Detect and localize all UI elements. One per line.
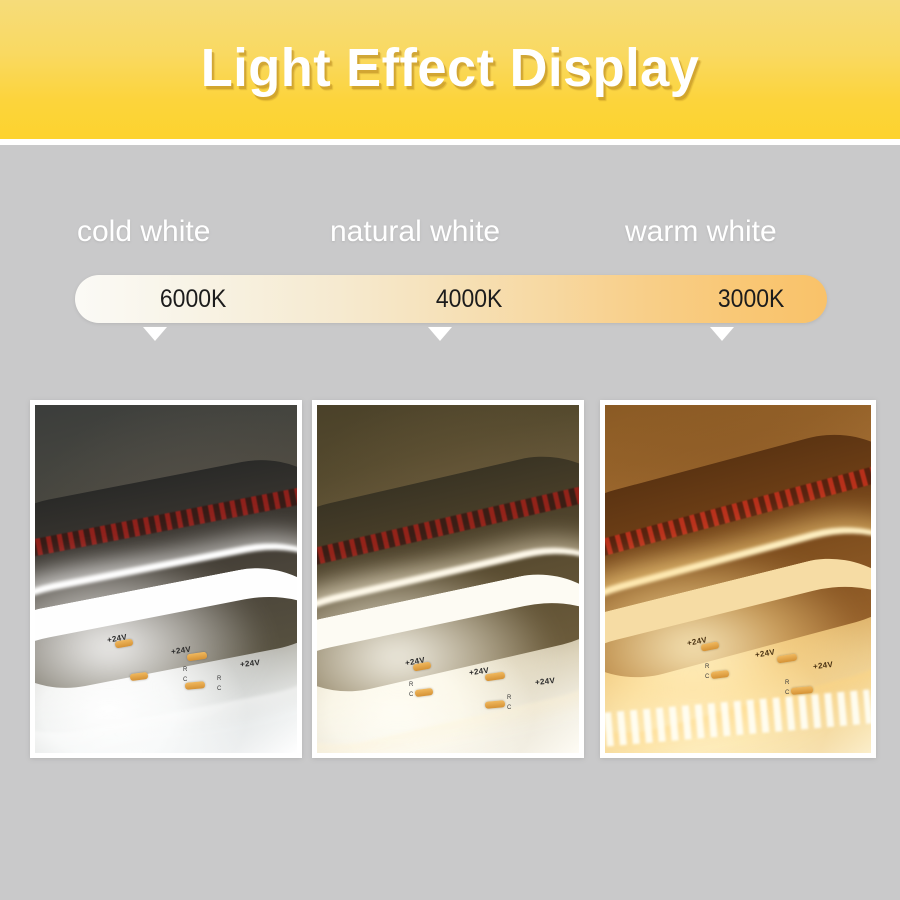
cct-gradient-bar: 6000K 4000K 3000K <box>75 275 827 323</box>
cct-name-row: cold white natural white warm white <box>0 212 900 260</box>
cct-label-natural-white: natural white <box>330 212 500 252</box>
photo-panel-warm-white: +24V +24V +24V R C R C <box>600 400 876 758</box>
pad-label-r-0: R <box>705 664 709 670</box>
pad-label-c-0: C <box>409 692 413 698</box>
photo-panel-row: +24V +24V +24V R C R C <box>0 400 900 760</box>
pad-label-r-1: R <box>785 680 789 686</box>
led-strip-photo-cold: +24V +24V +24V R C R C <box>35 405 297 753</box>
pointer-triangle-icon-warm <box>710 327 734 341</box>
light-effect-display-page: Light Effect Display cold white natural … <box>0 0 900 900</box>
pad-label-r-0: R <box>183 667 187 673</box>
page-title: Light Effect Display <box>201 37 700 99</box>
kelvin-value-3000k: 3000K <box>718 275 785 323</box>
cct-label-warm-white: warm white <box>625 212 777 252</box>
pad-label-c-1: C <box>785 690 789 696</box>
kelvin-value-6000k: 6000K <box>160 275 227 323</box>
header-divider <box>0 139 900 145</box>
cct-label-cold-white: cold white <box>77 212 210 252</box>
pointer-triangle-icon-natural <box>428 327 452 341</box>
pad-label-c-0: C <box>705 674 709 680</box>
pointer-triangle-icon-cold <box>143 327 167 341</box>
pad-label-c-0: C <box>183 677 187 683</box>
pad-label-r-1: R <box>217 676 221 682</box>
pad-label-c-1: C <box>217 686 221 692</box>
pad-label-c-1: C <box>507 705 511 711</box>
header-banner: Light Effect Display <box>0 0 900 139</box>
pad-label-r-0: R <box>409 682 413 688</box>
led-strip-photo-warm: +24V +24V +24V R C R C <box>605 405 871 753</box>
pad-label-r-1: R <box>507 695 511 701</box>
photo-panel-cold-white: +24V +24V +24V R C R C <box>30 400 302 758</box>
photo-panel-natural-white: +24V +24V +24V R C R C <box>312 400 584 758</box>
kelvin-value-4000k: 4000K <box>436 275 503 323</box>
led-strip-photo-natural: +24V +24V +24V R C R C <box>317 405 579 753</box>
